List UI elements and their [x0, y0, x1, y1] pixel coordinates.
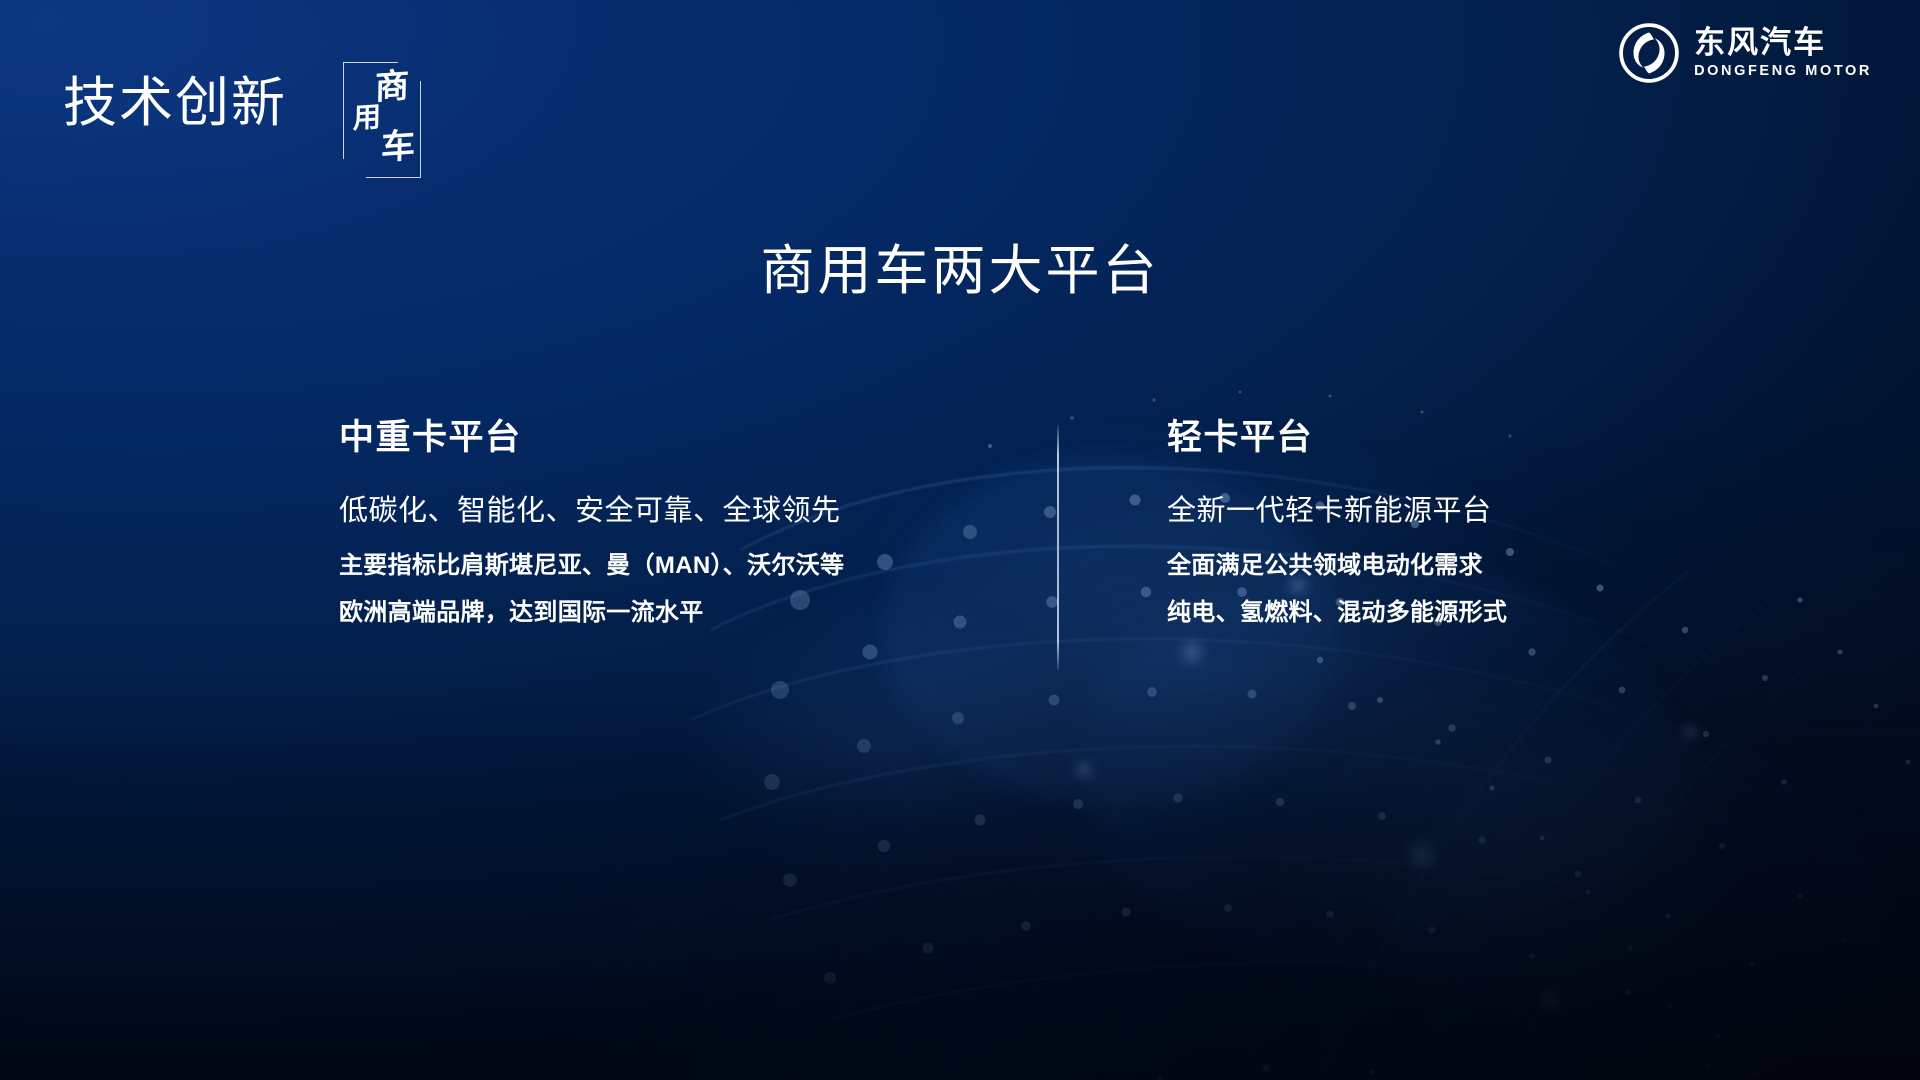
platform-columns: 中重卡平台 低碳化、智能化、安全可靠、全球领先 主要指标比肩斯堪尼亚、曼（MAN…	[0, 420, 1920, 720]
column-detail-line: 全面满足公共领域电动化需求	[1167, 554, 1787, 578]
column-detail-line: 主要指标比肩斯堪尼亚、曼（MAN）、沃尔沃等	[339, 554, 979, 578]
dongfeng-emblem-icon	[1618, 22, 1680, 84]
seal-text: 商 用 车	[355, 68, 421, 174]
slide-header: 技术创新 商 用 车	[63, 76, 421, 178]
seal-char-3: 车	[381, 129, 416, 165]
platform-column-medium-heavy-truck: 中重卡平台 低碳化、智能化、安全可靠、全球领先 主要指标比肩斯堪尼亚、曼（MAN…	[339, 420, 979, 648]
slide-canvas: 技术创新 商 用 车 东风汽车 DONGFENG MOTOR 商用车两大平台 中…	[0, 0, 1920, 1080]
column-detail-line: 欧洲高端品牌，达到国际一流水平	[339, 601, 979, 625]
section-title: 技术创新	[63, 76, 287, 130]
column-lead-text: 全新一代轻卡新能源平台	[1167, 497, 1787, 526]
column-heading: 中重卡平台	[339, 420, 979, 455]
dongfeng-brand-logo: 东风汽车 DONGFENG MOTOR	[1618, 22, 1872, 84]
brand-name-en: DONGFENG MOTOR	[1694, 64, 1872, 80]
column-heading: 轻卡平台	[1167, 420, 1787, 455]
column-lead-text: 低碳化、智能化、安全可靠、全球领先	[339, 497, 979, 526]
brand-name-cn: 东风汽车	[1694, 26, 1872, 59]
brand-wordmark: 东风汽车 DONGFENG MOTOR	[1694, 26, 1872, 79]
column-detail-line: 纯电、氢燃料、混动多能源形式	[1167, 601, 1787, 625]
platform-column-light-truck: 轻卡平台 全新一代轻卡新能源平台 全面满足公共领域电动化需求 纯电、氢燃料、混动…	[1167, 420, 1787, 648]
page-title: 商用车两大平台	[0, 244, 1920, 298]
seal-char-2: 用	[353, 103, 382, 133]
commercial-vehicle-seal: 商 用 车	[343, 62, 421, 178]
